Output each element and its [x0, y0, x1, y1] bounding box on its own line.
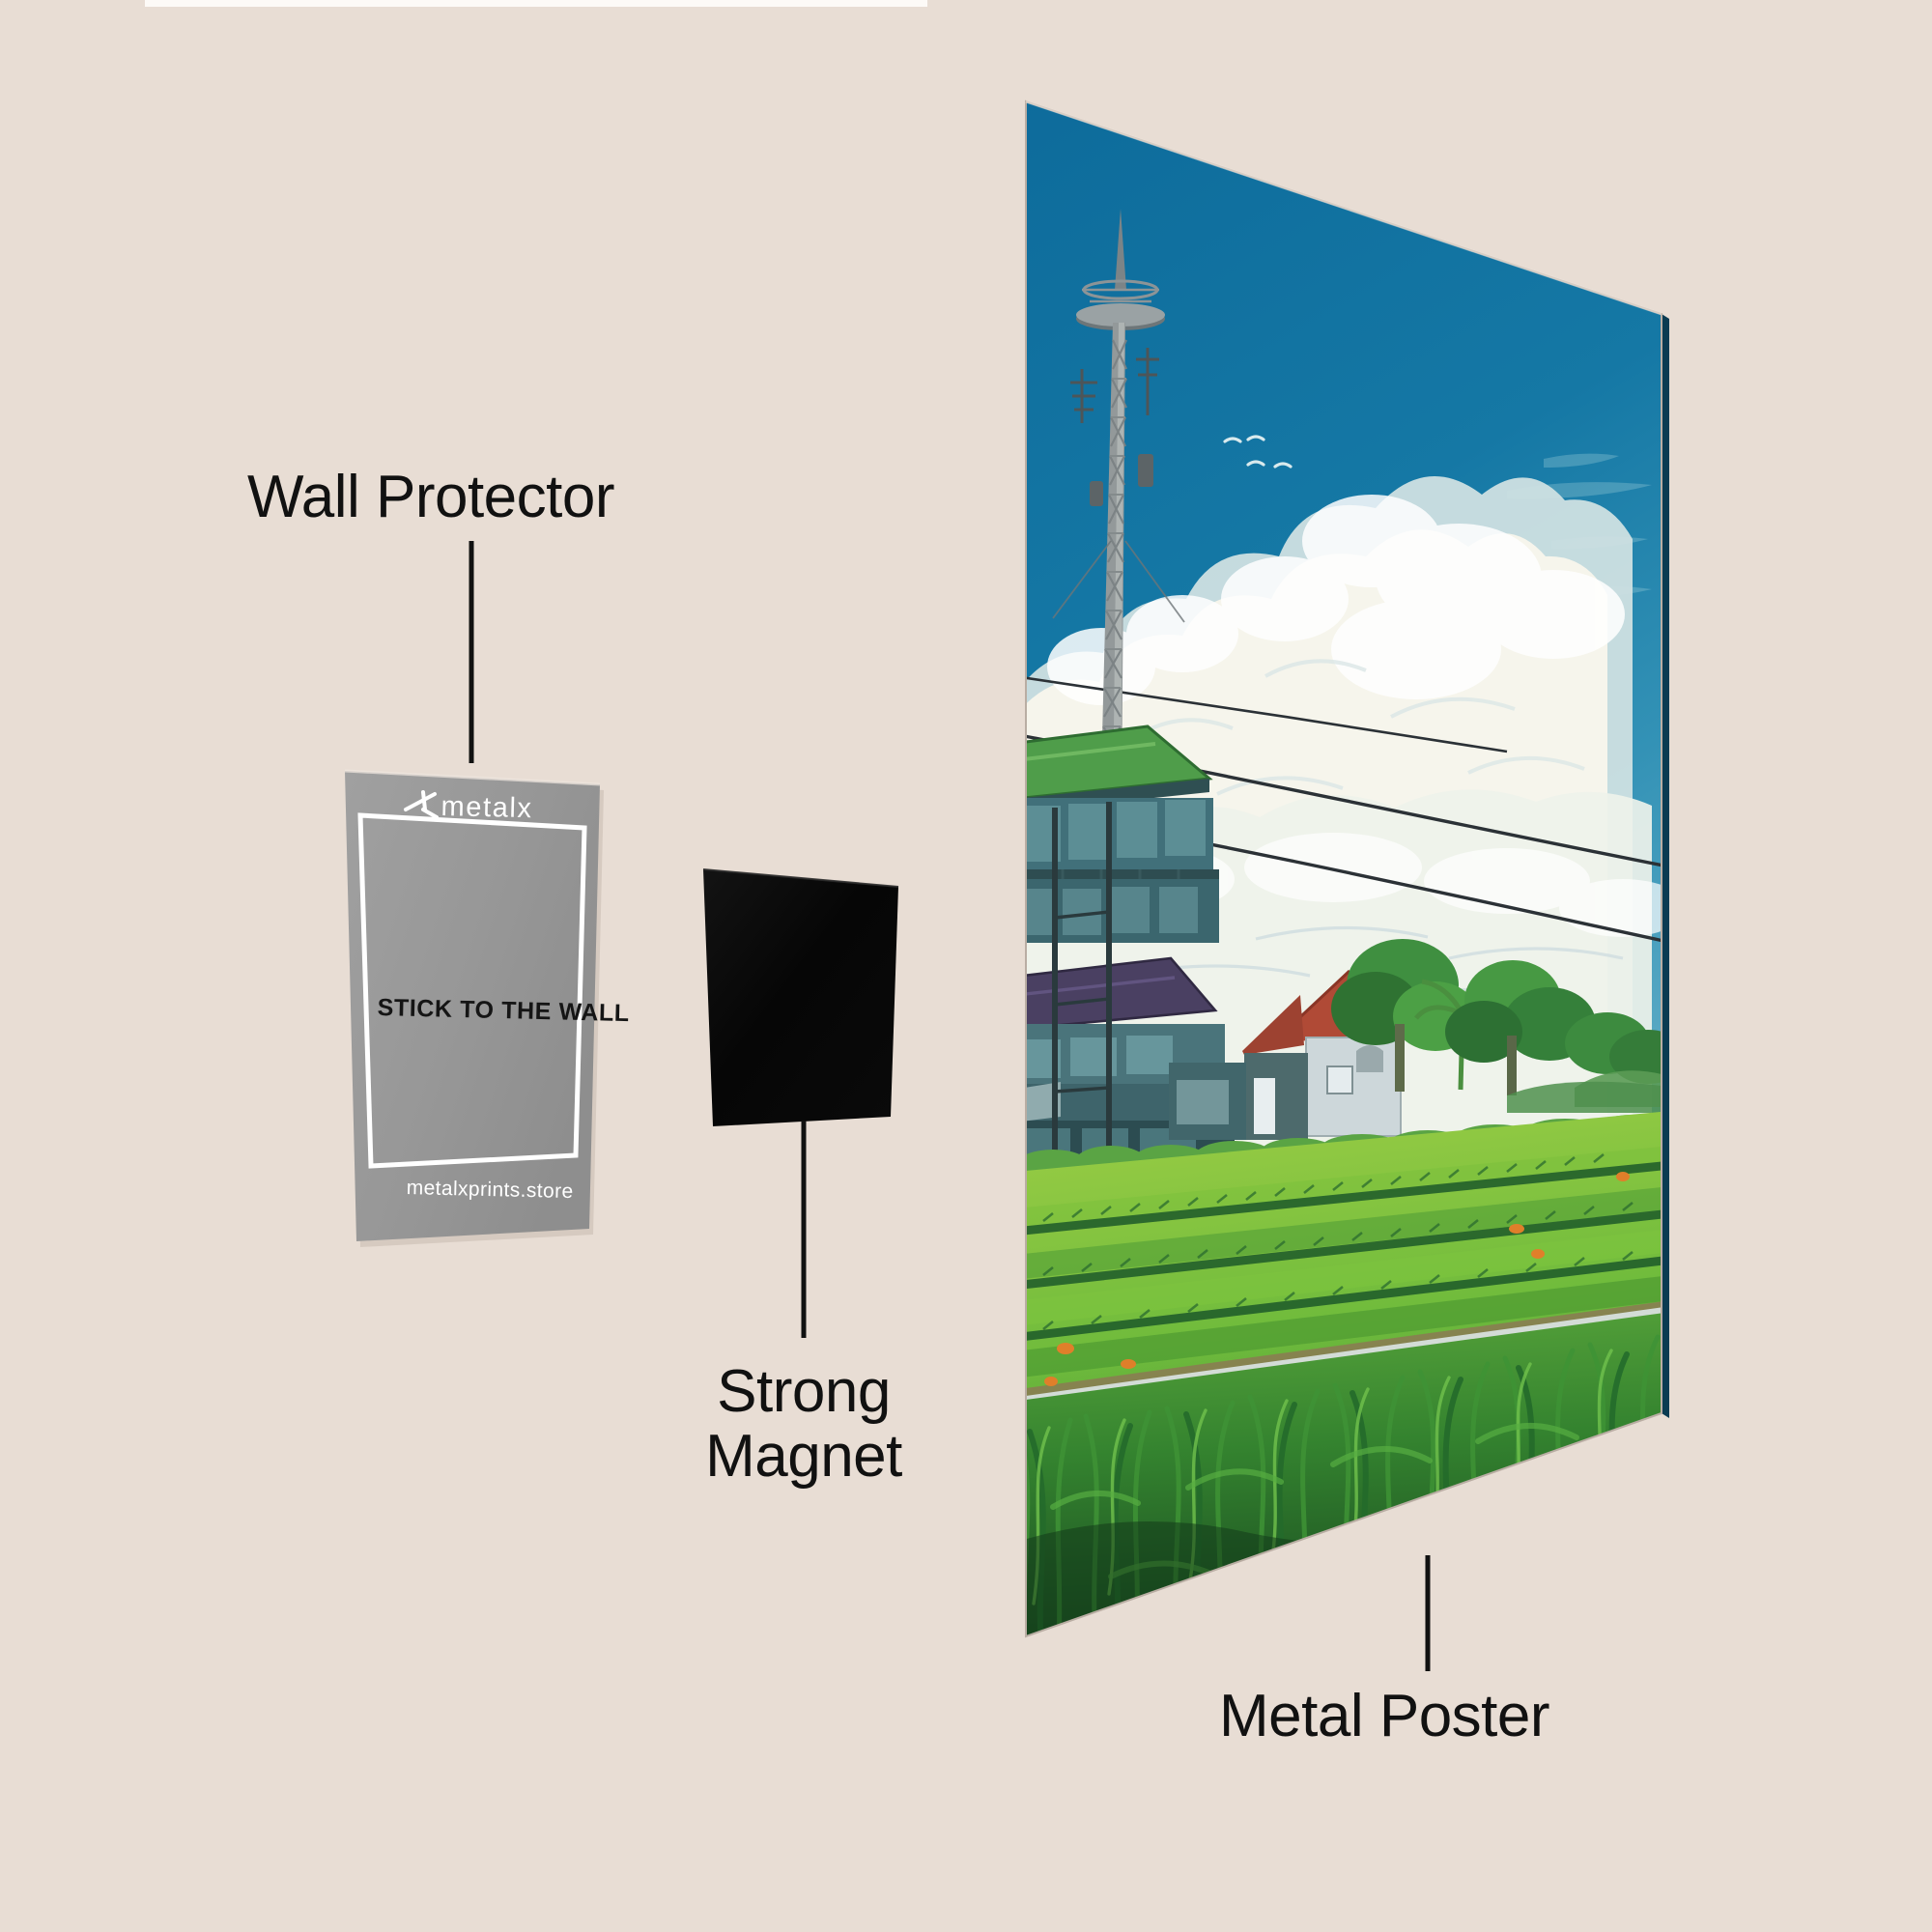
poster-edge-right: [1662, 314, 1669, 1418]
wall-protector[interactable]: [345, 771, 604, 1247]
annotation-label-strong-magnet-line2: Magnet: [705, 1423, 902, 1490]
strong-magnet[interactable]: [703, 869, 898, 1126]
annotation-label-strong-magnet-line1: Strong: [717, 1358, 891, 1425]
annotation-label-strong-magnet: StrongMagnet: [688, 1360, 920, 1490]
wall-protector-card: [345, 771, 600, 1241]
scene-root: metalx STICK TO THE WALL metalxprints.st…: [0, 0, 1932, 1932]
annotation-label-wall-protector: Wall Protector: [247, 466, 614, 530]
scene-graphics: [0, 0, 1932, 1932]
metal-poster[interactable]: [1005, 87, 1687, 1681]
rice-field: [1005, 1111, 1671, 1681]
annotation-label-metal-poster: Metal Poster: [1219, 1685, 1549, 1749]
magnet-body: [703, 869, 898, 1126]
